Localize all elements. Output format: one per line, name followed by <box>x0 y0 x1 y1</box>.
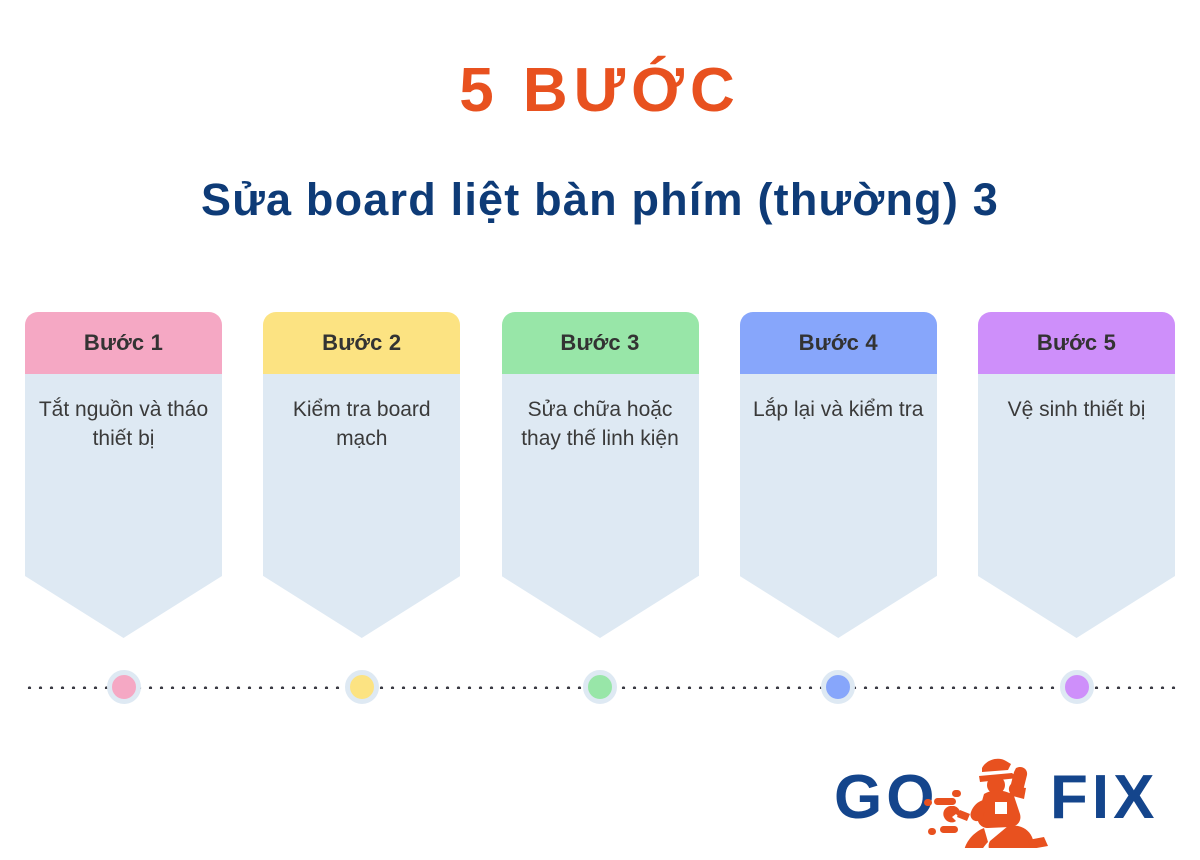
step-label-5: Bước 5 <box>1037 330 1116 356</box>
timeline-dot-1 <box>107 670 141 704</box>
page-title: 5 BƯỚC <box>0 58 1200 123</box>
step-header-2: Bước 2 <box>263 312 460 374</box>
step-text-2: Kiểm tra board mạch <box>263 374 460 576</box>
infographic-page: 5 BƯỚC Sửa board liệt bàn phím (thường) … <box>0 0 1200 860</box>
step-header-3: Bước 3 <box>502 312 699 374</box>
step-card-3: Bước 3 Sửa chữa hoặc thay thế linh kiện <box>502 312 699 638</box>
timeline-dot-slot-3 <box>502 662 699 712</box>
step-text-3: Sửa chữa hoặc thay thế linh kiện <box>502 374 699 576</box>
timeline-dot-slot-2 <box>263 662 460 712</box>
step-label-2: Bước 2 <box>322 330 401 356</box>
step-point-2 <box>263 576 460 638</box>
step-body-wrap-1: Tắt nguồn và tháo thiết bị <box>25 374 222 638</box>
step-card-4: Bước 4 Lắp lại và kiểm tra <box>740 312 937 638</box>
steps-row: Bước 1 Tắt nguồn và tháo thiết bị Bước 2… <box>25 312 1175 642</box>
timeline-dot-2 <box>345 670 379 704</box>
mascot-repairman-icon <box>924 759 1048 848</box>
svg-text:GO: GO <box>834 763 938 832</box>
timeline-dot-slot-4 <box>740 662 937 712</box>
timeline-dot-5 <box>1060 670 1094 704</box>
step-label-1: Bước 1 <box>84 330 163 356</box>
step-text-4: Lắp lại và kiểm tra <box>740 374 937 576</box>
step-point-1 <box>25 576 222 638</box>
timeline-dot-slot-1 <box>25 662 222 712</box>
step-text-1: Tắt nguồn và tháo thiết bị <box>25 374 222 576</box>
step-header-1: Bước 1 <box>25 312 222 374</box>
timeline-dot-slot-5 <box>978 662 1175 712</box>
timeline-dot-4 <box>821 670 855 704</box>
step-body-wrap-3: Sửa chữa hoặc thay thế linh kiện <box>502 374 699 638</box>
step-point-5 <box>978 576 1175 638</box>
timeline-dot-3 <box>583 670 617 704</box>
step-card-5: Bước 5 Vệ sinh thiết bị <box>978 312 1175 638</box>
step-text-5: Vệ sinh thiết bị <box>978 374 1175 576</box>
svg-text:FIX: FIX <box>1050 763 1158 832</box>
step-label-4: Bước 4 <box>799 330 878 356</box>
step-body-wrap-2: Kiểm tra board mạch <box>263 374 460 638</box>
step-card-2: Bước 2 Kiểm tra board mạch <box>263 312 460 638</box>
brand-logo: GO FIX <box>832 752 1180 848</box>
timeline-dots-row <box>25 662 1175 712</box>
step-point-4 <box>740 576 937 638</box>
step-point-3 <box>502 576 699 638</box>
step-header-5: Bước 5 <box>978 312 1175 374</box>
step-body-wrap-4: Lắp lại và kiểm tra <box>740 374 937 638</box>
step-card-1: Bước 1 Tắt nguồn và tháo thiết bị <box>25 312 222 638</box>
step-header-4: Bước 4 <box>740 312 937 374</box>
step-label-3: Bước 3 <box>560 330 639 356</box>
page-subtitle: Sửa board liệt bàn phím (thường) 3 <box>0 175 1200 225</box>
step-body-wrap-5: Vệ sinh thiết bị <box>978 374 1175 638</box>
